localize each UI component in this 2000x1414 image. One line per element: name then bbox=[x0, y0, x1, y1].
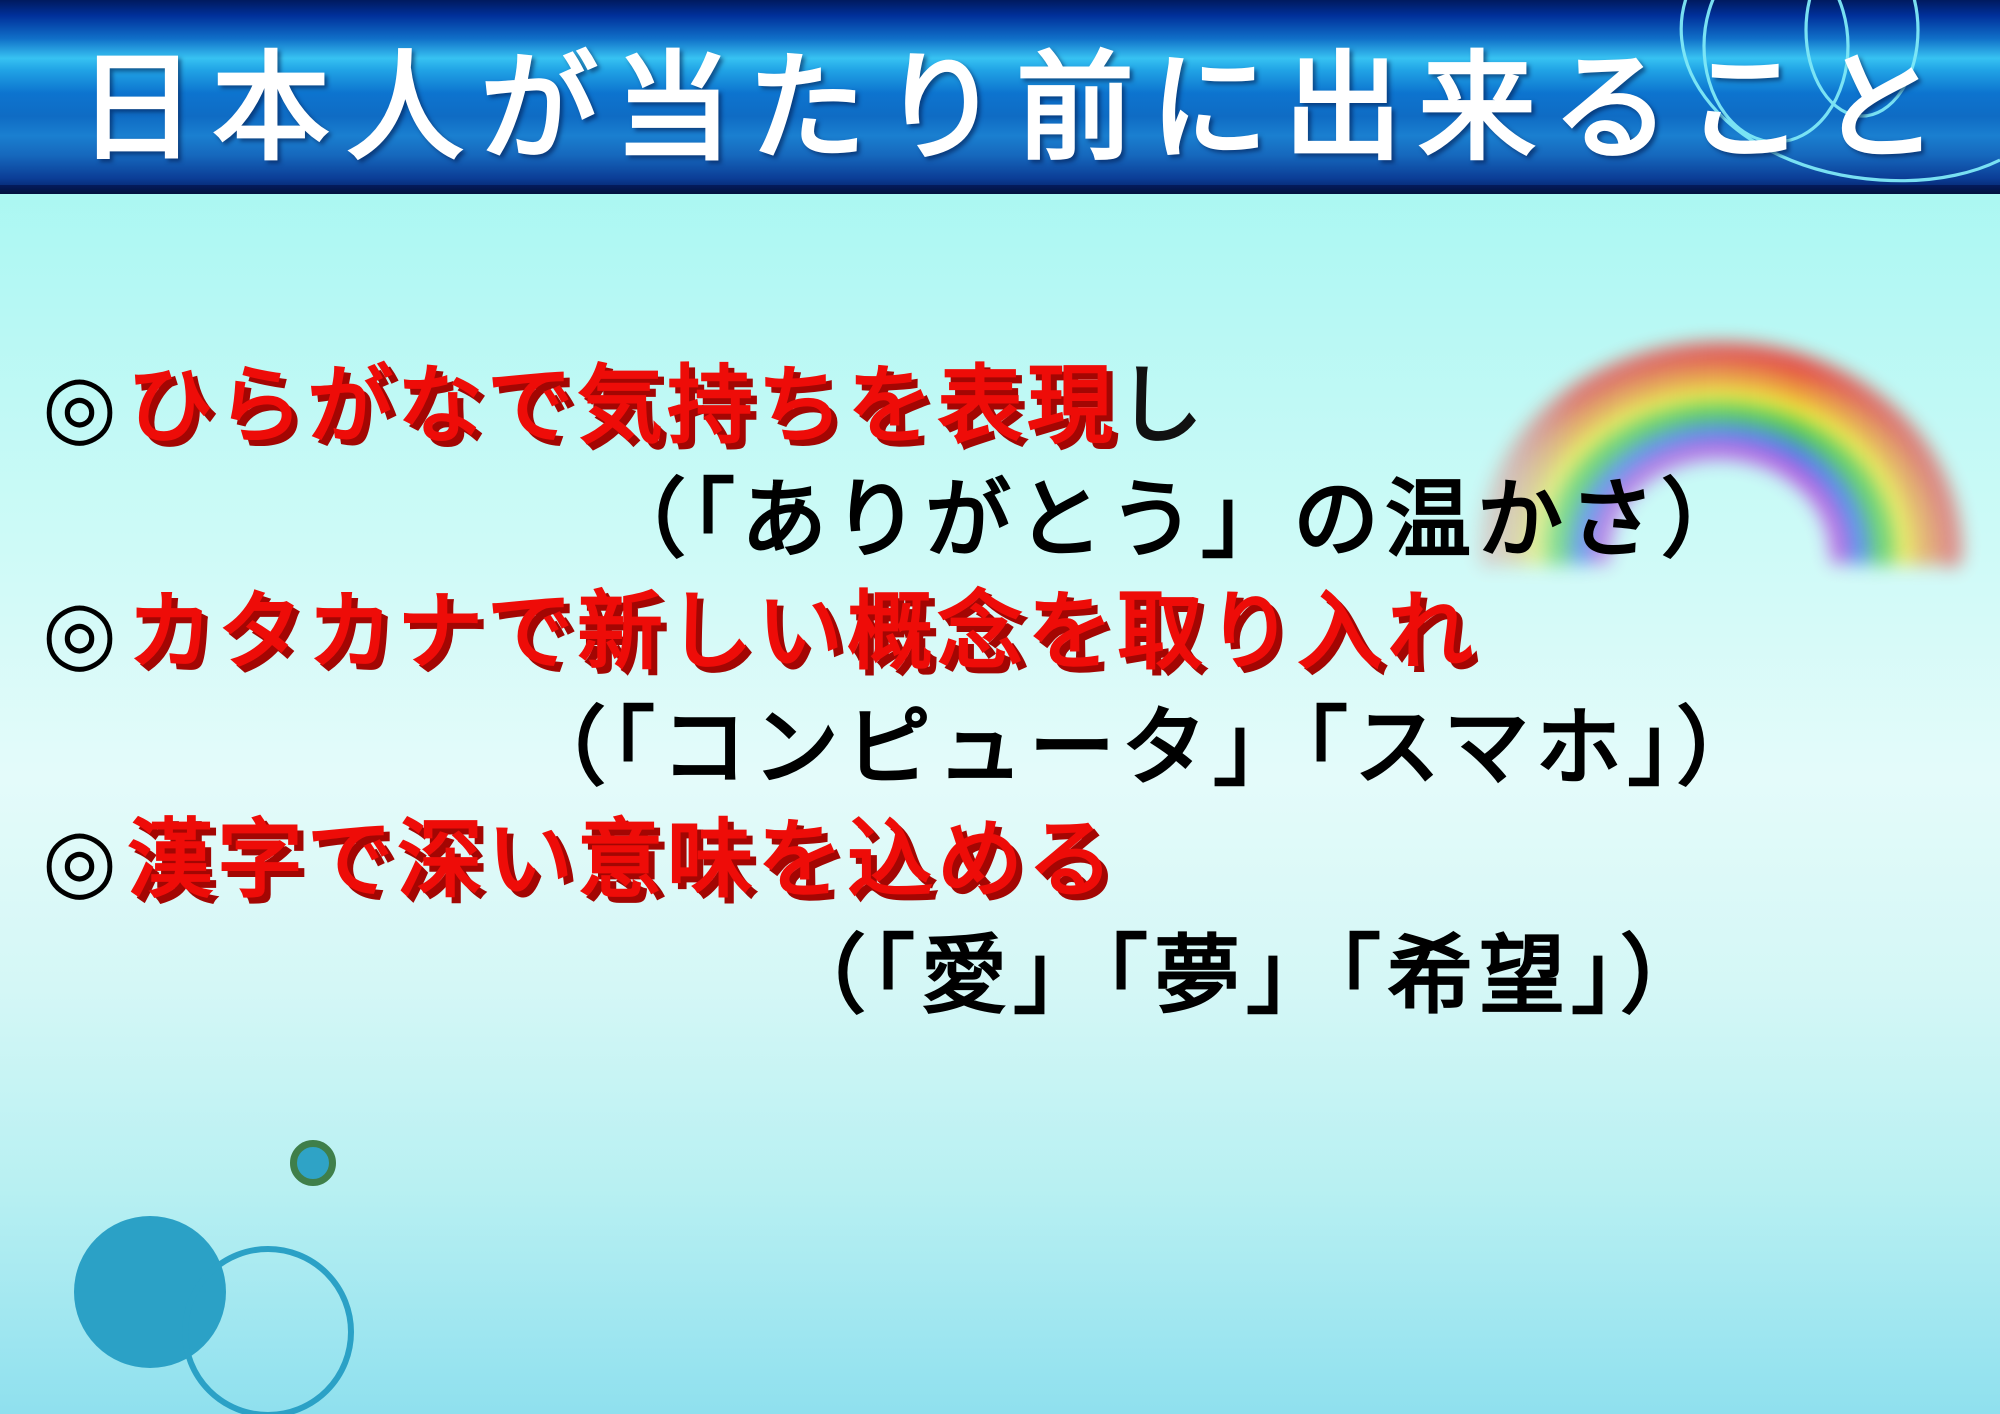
bullet-line-2-red-text: カタカナで新しい概念を取り入れ bbox=[127, 582, 1477, 682]
bullet-line-1: ◎ひらがなで気持ちを表現し bbox=[42, 358, 1207, 454]
title-banner: 日本人が当たり前に出来ること bbox=[0, 0, 2000, 194]
bullet-marker-icon: ◎ bbox=[42, 356, 121, 456]
slide-body: ◎ひらがなで気持ちを表現し （「ありがとう」の温かさ） ◎カタカナで新しい概念を… bbox=[0, 300, 2000, 1414]
bullet-marker-icon: ◎ bbox=[42, 582, 121, 682]
small-dot-decoration bbox=[290, 1140, 336, 1186]
page-title: 日本人が当たり前に出来ること bbox=[78, 48, 1978, 168]
sub-line-2: （「コンピュータ」「スマホ」） bbox=[520, 700, 1768, 796]
sub-line-3: （「愛」「夢」「希望」） bbox=[780, 928, 1712, 1024]
bullet-line-1-black-text: し bbox=[1117, 356, 1207, 456]
bullet-line-1-red-text: ひらがなで気持ちを表現 bbox=[127, 356, 1117, 456]
bullet-line-3: ◎漢字で深い意味を込める bbox=[42, 812, 1117, 908]
banner-bottom-edge bbox=[0, 185, 2000, 194]
sub-line-1: （「ありがとう」の温かさ） bbox=[600, 472, 1753, 568]
bullet-line-2: ◎カタカナで新しい概念を取り入れ bbox=[42, 584, 1477, 680]
ring-circle-decoration bbox=[182, 1246, 354, 1414]
bullet-marker-icon: ◎ bbox=[42, 810, 121, 910]
bullet-line-3-red-text: 漢字で深い意味を込める bbox=[127, 810, 1117, 910]
presentation-slide: 日本人が当たり前に出来ること ◎ひらが bbox=[0, 0, 2000, 1414]
